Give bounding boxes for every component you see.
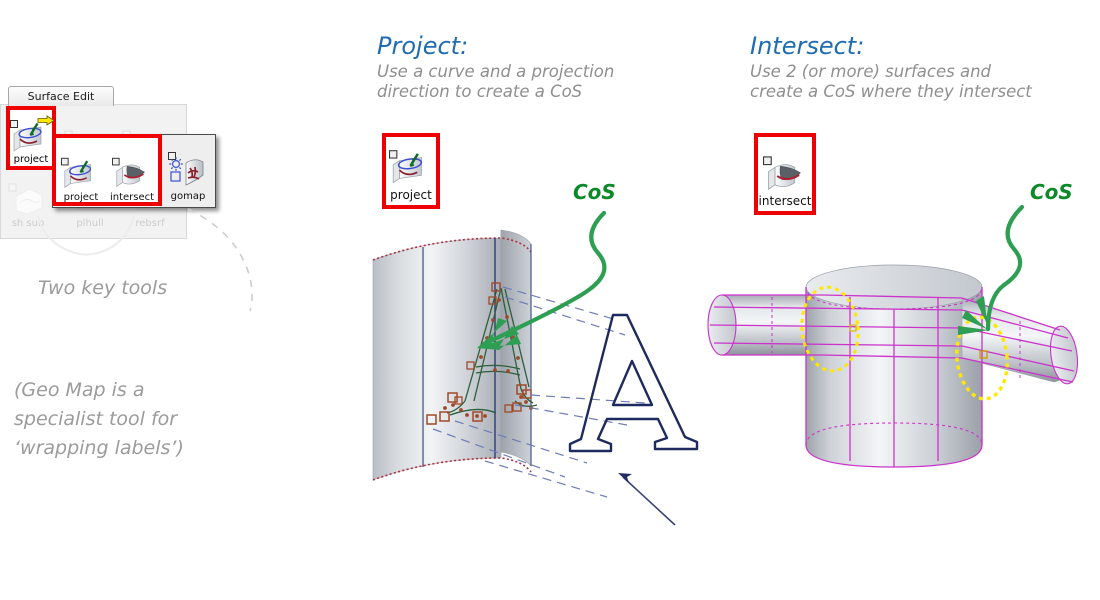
flyout-item-gomap[interactable]: gomap (163, 139, 213, 203)
intersect-tool-button[interactable]: intersect (754, 133, 816, 215)
flyout-item-project[interactable]: project (56, 140, 106, 204)
shell-subtract-icon (8, 183, 48, 217)
geomap-wrap-icon (168, 152, 208, 190)
flyout-item-intersect[interactable]: intersect (106, 140, 158, 204)
flyout-selection-project-intersect[interactable]: project (52, 134, 162, 206)
project-surface-icon (389, 148, 433, 188)
note-geomap: (Geo Map is a specialist tool for ‘wrapp… (14, 376, 274, 463)
palette-tab-surface-edit[interactable]: Surface Edit (8, 86, 114, 106)
dashed-connector-curve (180, 205, 330, 315)
intersect-heading: Intersect: (750, 34, 864, 58)
slide-canvas: sh sub plhull rebsrf Surface Edit (0, 0, 1100, 600)
intersect-figure (700, 225, 1100, 525)
flyout-label-intersect: intersect (110, 192, 154, 204)
intersect-tool-button-label: intersect (759, 194, 812, 209)
flyout-label-gomap: gomap (171, 191, 206, 203)
intersect-surface-icon (763, 154, 807, 194)
project-description: Use a curve and a projection direction t… (377, 62, 677, 102)
project-heading: Project: (377, 34, 468, 58)
intersect-cos-label: CoS (1030, 180, 1073, 204)
projection-direction-arrow (618, 473, 675, 525)
project-surface-icon (10, 120, 52, 154)
project-cos-label: CoS (573, 180, 616, 204)
project-tool-button-label: project (390, 188, 432, 203)
project-surface-icon (61, 157, 101, 191)
flyout-arrow-icon[interactable] (38, 116, 54, 125)
intersect-description: Use 2 (or more) surfaces and create a Co… (750, 62, 1090, 102)
project-tool-button[interactable]: project (382, 133, 440, 209)
flyout-label-project: project (64, 192, 99, 204)
intersect-surface-icon (112, 157, 152, 191)
palette-reflection (28, 216, 188, 261)
note-two-key-tools: Two key tools (38, 274, 167, 303)
project-figure (355, 225, 700, 570)
tool-label-project: project (14, 154, 49, 165)
